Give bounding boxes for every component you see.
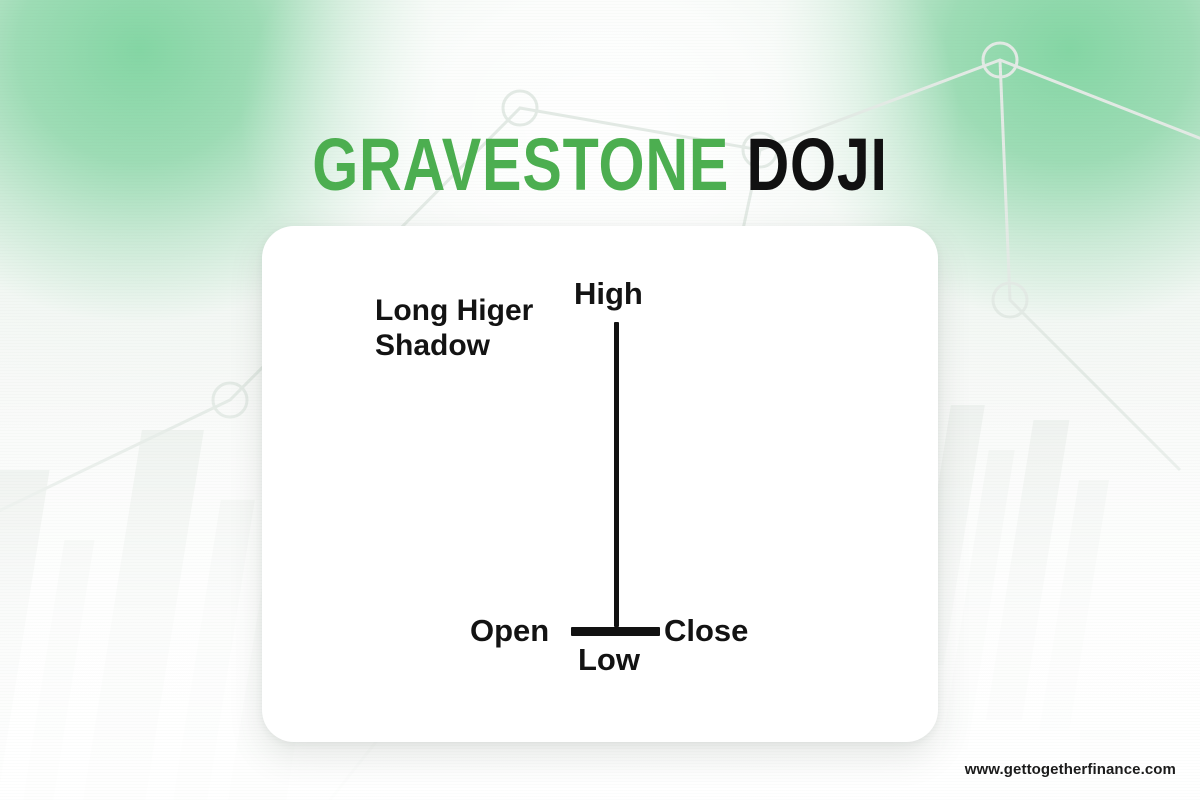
poster-canvas: GRAVESTONE DOJI High Long Higer Shadow O…	[0, 0, 1200, 800]
label-high: High	[574, 276, 643, 312]
label-open: Open	[470, 613, 549, 649]
label-long-higher-shadow: Long Higer Shadow	[375, 294, 533, 364]
label-long-higher-shadow-line2: Shadow	[375, 329, 533, 364]
footer-website-url[interactable]: www.gettogetherfinance.com	[965, 761, 1176, 778]
upper-shadow-wick	[614, 322, 619, 627]
doji-body-bar	[571, 627, 660, 636]
candlestick-diagram: High Long Higer Shadow Open Close Low	[262, 226, 938, 742]
label-close: Close	[664, 613, 748, 649]
label-long-higher-shadow-line1: Long Higer	[375, 294, 533, 329]
page-title: GRAVESTONE DOJI	[120, 128, 1080, 202]
label-low: Low	[578, 642, 640, 678]
page-title-primary: GRAVESTONE	[312, 123, 729, 206]
page-title-secondary: DOJI	[746, 123, 887, 206]
